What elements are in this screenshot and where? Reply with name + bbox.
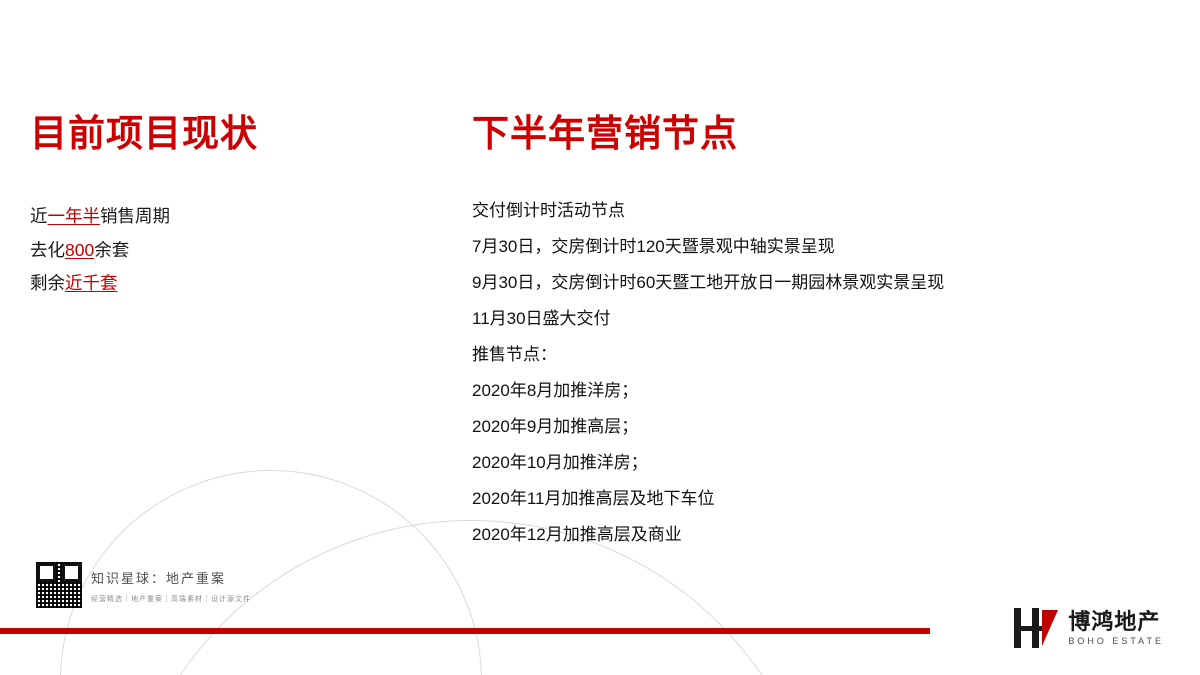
left-column: 目前项目现状 近一年半销售周期 去化800余套 剩余近千套 — [30, 112, 450, 309]
right-line-3: 9月30日，交房倒计时60天暨工地开放日一期园林景观实景呈现 — [472, 274, 1172, 291]
left-line-2-pre: 去化 — [30, 240, 65, 260]
left-line-2-post: 余套 — [94, 240, 129, 260]
slide-canvas: 目前项目现状 近一年半销售周期 去化800余套 剩余近千套 下半年营销节点 交付… — [0, 0, 1200, 675]
logo-name-cn: 博鸿地产 — [1068, 610, 1164, 633]
logo-name-en: BOHO ESTATE — [1068, 636, 1164, 646]
company-logo: 博鸿地产 BOHO ESTATE — [1014, 608, 1164, 648]
right-line-1: 交付倒计时活动节点 — [472, 202, 1172, 219]
right-column-heading: 下半年营销节点 — [472, 112, 1172, 156]
right-line-10: 2020年12月加推高层及商业 — [472, 526, 1172, 543]
left-line-3: 剩余近千套 — [30, 275, 450, 293]
right-line-7: 2020年9月加推高层； — [472, 418, 1172, 435]
left-line-2: 去化800余套 — [30, 242, 450, 260]
left-line-1-pre: 近 — [30, 206, 48, 226]
right-line-8: 2020年10月加推洋房； — [472, 454, 1172, 471]
right-line-9: 2020年11月加推高层及地下车位 — [472, 490, 1172, 507]
watermark-text: 知识星球：地产重案 经营精选｜地产重案｜高端素材｜设计源文件 — [91, 562, 251, 604]
left-line-1: 近一年半销售周期 — [30, 208, 450, 226]
right-line-4: 11月30日盛大交付 — [472, 310, 1172, 327]
left-line-1-highlight: 一年半 — [48, 206, 101, 226]
left-column-heading: 目前项目现状 — [30, 112, 450, 156]
left-line-1-post: 销售周期 — [100, 206, 170, 226]
right-line-2: 7月30日，交房倒计时120天暨景观中轴实景呈现 — [472, 238, 1172, 255]
left-line-3-highlight: 近千套 — [65, 273, 118, 293]
watermark-subtitle: 经营精选｜地产重案｜高端素材｜设计源文件 — [91, 594, 251, 604]
right-column: 下半年营销节点 交付倒计时活动节点 7月30日，交房倒计时120天暨景观中轴实景… — [472, 112, 1172, 562]
bottom-red-rule — [0, 628, 930, 634]
left-line-3-pre: 剩余 — [30, 273, 65, 293]
watermark-title: 知识星球：地产重案 — [91, 568, 251, 587]
right-line-6: 2020年8月加推洋房； — [472, 382, 1172, 399]
right-line-5: 推售节点： — [472, 346, 1172, 363]
logo-mark-icon — [1014, 608, 1058, 648]
left-line-2-highlight: 800 — [65, 240, 94, 260]
logo-text: 博鸿地产 BOHO ESTATE — [1068, 610, 1164, 646]
qr-code-icon — [36, 562, 82, 608]
watermark-block: 知识星球：地产重案 经营精选｜地产重案｜高端素材｜设计源文件 — [36, 562, 251, 608]
